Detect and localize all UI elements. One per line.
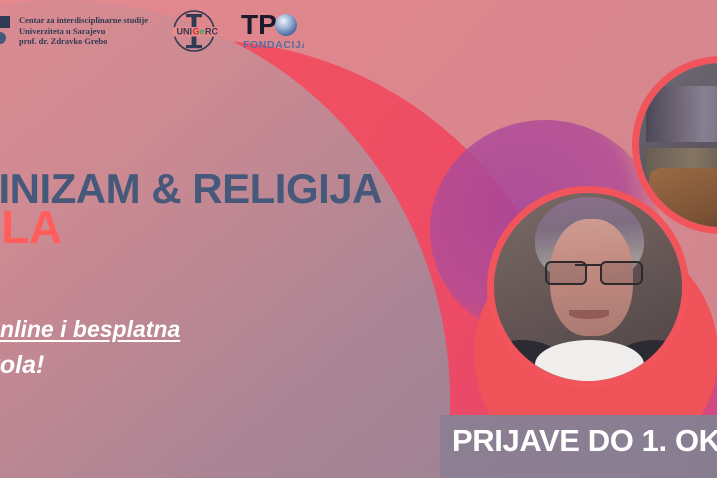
subtitle-line-2: kola!: [0, 351, 406, 380]
bookshelf-upper: [646, 86, 717, 142]
subtitle-line-1: online i besplatna: [0, 316, 406, 343]
cis-line-1: Centar za interdisciplinarne studije: [19, 15, 148, 26]
portrait-mouth: [569, 310, 608, 319]
headline-line-middle: MINIZAM & RELIGIJA: [0, 169, 502, 210]
unigerc-circle-emblem-icon: UNI G e RC: [166, 9, 222, 53]
headline: R MINIZAM & RELIGIJA OLA: [0, 128, 502, 250]
eyeglass-bridge: [575, 264, 601, 266]
cis-logo: Centar za interdisciplinarne studije Uni…: [4, 14, 148, 48]
svg-text:RC: RC: [205, 27, 218, 37]
svg-text:FONDACIJA: FONDACIJA: [243, 39, 304, 51]
logo-bar: Centar za interdisciplinarne studije Uni…: [0, 8, 304, 54]
portrait-woman-glasses: [487, 186, 689, 388]
promo-banner: Centar za interdisciplinarne studije Uni…: [0, 0, 717, 478]
tpo-sphere-icon: [275, 14, 297, 36]
portrait-main-image: [494, 193, 682, 381]
cis-line-2: Univerziteta u Sarajevu: [19, 26, 148, 37]
cta-deadline-text: PRIJAVE DO 1. OKT: [452, 423, 717, 459]
svg-text:e: e: [200, 27, 205, 37]
eyeglass-lens-right: [600, 261, 642, 285]
subtitle: online i besplatna kola!: [0, 316, 406, 380]
svg-text:UNI: UNI: [177, 27, 193, 37]
svg-text:TP: TP: [241, 9, 277, 40]
svg-text:G: G: [193, 27, 200, 37]
cis-line-3: prof. dr. Zdravko Grebo: [19, 36, 148, 47]
cis-mark-icon: [0, 14, 14, 48]
headline-line-bottom: OLA: [0, 205, 502, 250]
cis-logo-text: Centar za interdisciplinarne studije Uni…: [19, 15, 148, 47]
tpo-logo: TP FONDACIJA: [240, 8, 304, 54]
